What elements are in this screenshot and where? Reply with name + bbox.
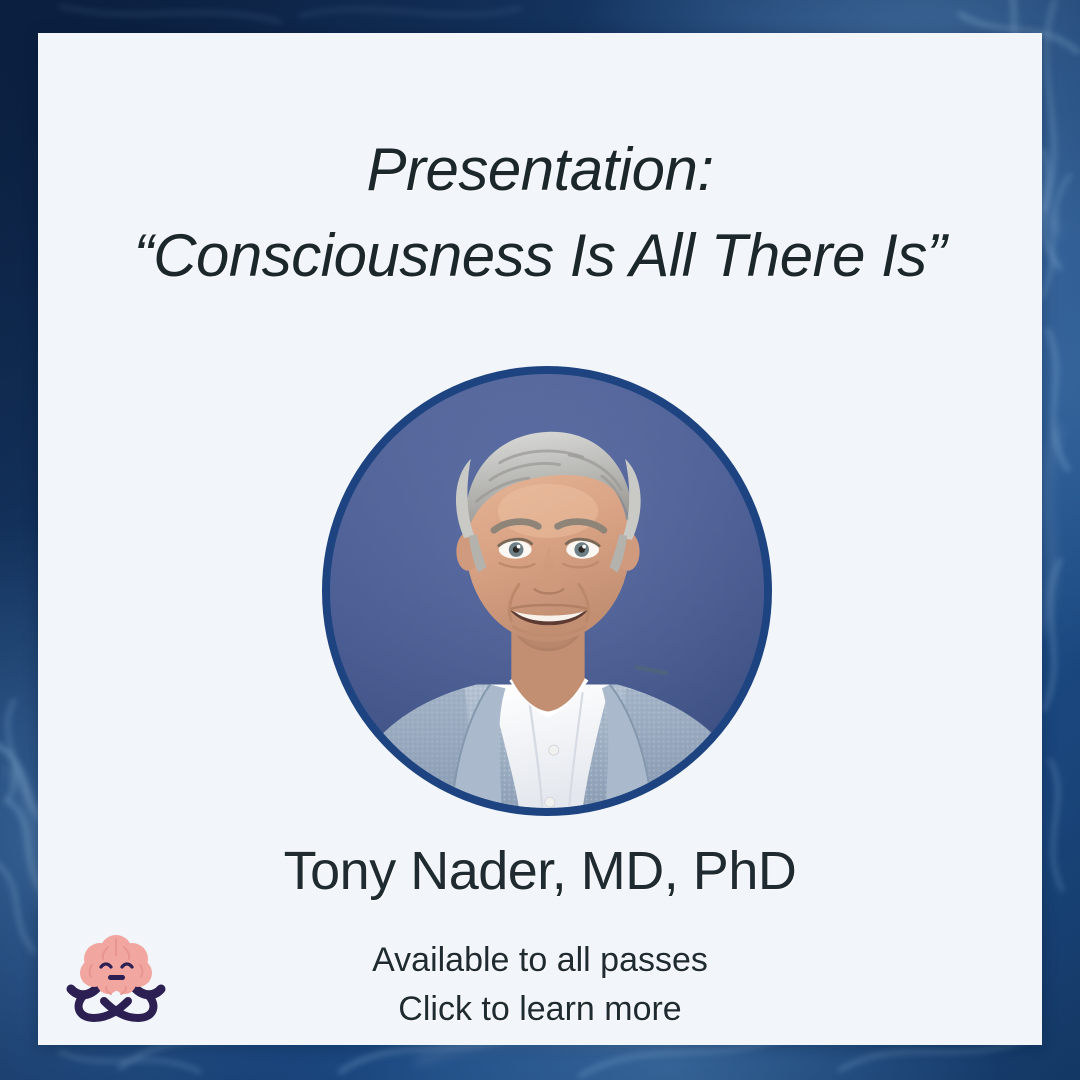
page-title: Presentation: “Consciousness Is All Ther… bbox=[38, 131, 1042, 295]
speaker-name: Tony Nader, MD, PhD bbox=[38, 840, 1042, 902]
detail-lines: Available to all passes Click to learn m… bbox=[38, 936, 1042, 1034]
call-to-action-text[interactable]: Click to learn more bbox=[38, 985, 1042, 1034]
speaker-portrait[interactable] bbox=[322, 366, 772, 816]
meditating-brain-logo[interactable] bbox=[62, 925, 170, 1025]
availability-text: Available to all passes bbox=[38, 936, 1042, 985]
content-card: Presentation: “Consciousness Is All Ther… bbox=[38, 33, 1042, 1045]
promo-card-root: Presentation: “Consciousness Is All Ther… bbox=[0, 0, 1080, 1080]
title-line-1: Presentation: bbox=[38, 131, 1042, 209]
speaker-photo-image bbox=[330, 374, 764, 808]
title-line-2: “Consciousness Is All There Is” bbox=[38, 217, 1042, 295]
